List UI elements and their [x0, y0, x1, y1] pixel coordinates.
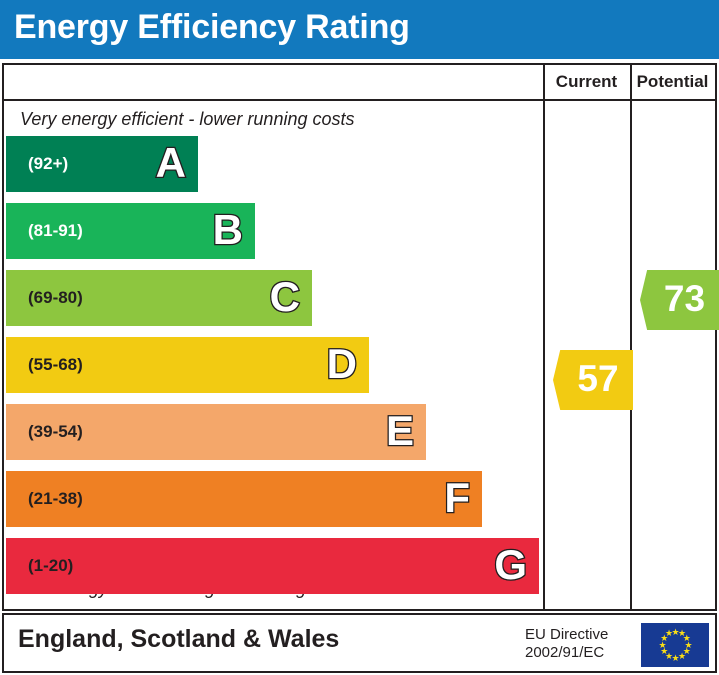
chart-title-bar: Energy Efficiency Rating	[0, 0, 719, 59]
page-title: Energy Efficiency Rating	[14, 8, 410, 47]
band-row-e: (39-54) E	[6, 404, 426, 460]
band-letter-f: F	[444, 471, 470, 527]
band-letter-a: A	[156, 136, 186, 192]
band-row-a: (92+) A	[6, 136, 198, 192]
band-row-f: (21-38) F	[6, 471, 482, 527]
band-range-d: (55-68)	[28, 337, 83, 393]
rating-table: Current Potential Very energy efficient …	[2, 63, 717, 611]
potential-rating-badge: 73	[640, 270, 719, 330]
footer-bar: England, Scotland & Wales EU Directive 2…	[2, 613, 717, 673]
footer-directive: EU Directive 2002/91/EC	[525, 626, 608, 662]
band-range-e: (39-54)	[28, 404, 83, 460]
band-letter-c: C	[270, 270, 300, 326]
footer-directive-line2: 2002/91/EC	[525, 644, 608, 662]
band-row-b: (81-91) B	[6, 203, 255, 259]
band-letter-b: B	[213, 203, 243, 259]
current-rating-badge: 57	[553, 350, 633, 410]
band-range-b: (81-91)	[28, 203, 83, 259]
band-row-d: (55-68) D	[6, 337, 369, 393]
column-header-potential: Potential	[630, 65, 715, 99]
band-range-a: (92+)	[28, 136, 68, 192]
band-range-f: (21-38)	[28, 471, 83, 527]
potential-rating-value: 73	[640, 270, 719, 330]
energy-efficiency-rating-chart: Energy Efficiency Rating Current Potenti…	[0, 0, 719, 675]
band-row-c: (69-80) C	[6, 270, 312, 326]
footer-directive-line1: EU Directive	[525, 626, 608, 644]
band-letter-e: E	[386, 404, 414, 460]
table-header-row: Current Potential	[4, 65, 715, 101]
eu-flag-icon: ★★★★★★★★★★★★	[641, 623, 709, 667]
caption-very-efficient: Very energy efficient - lower running co…	[20, 109, 355, 130]
band-letter-g: G	[494, 538, 527, 594]
footer-region-label: England, Scotland & Wales	[18, 625, 339, 654]
band-range-c: (69-80)	[28, 270, 83, 326]
eu-star-icon: ★	[665, 630, 672, 637]
current-rating-value: 57	[553, 350, 633, 410]
column-divider-potential	[630, 65, 632, 609]
band-letter-d: D	[327, 337, 357, 393]
band-range-g: (1-20)	[28, 538, 73, 594]
column-divider-current	[543, 65, 545, 609]
band-row-g: (1-20) G	[6, 538, 539, 594]
column-header-current: Current	[543, 65, 630, 99]
